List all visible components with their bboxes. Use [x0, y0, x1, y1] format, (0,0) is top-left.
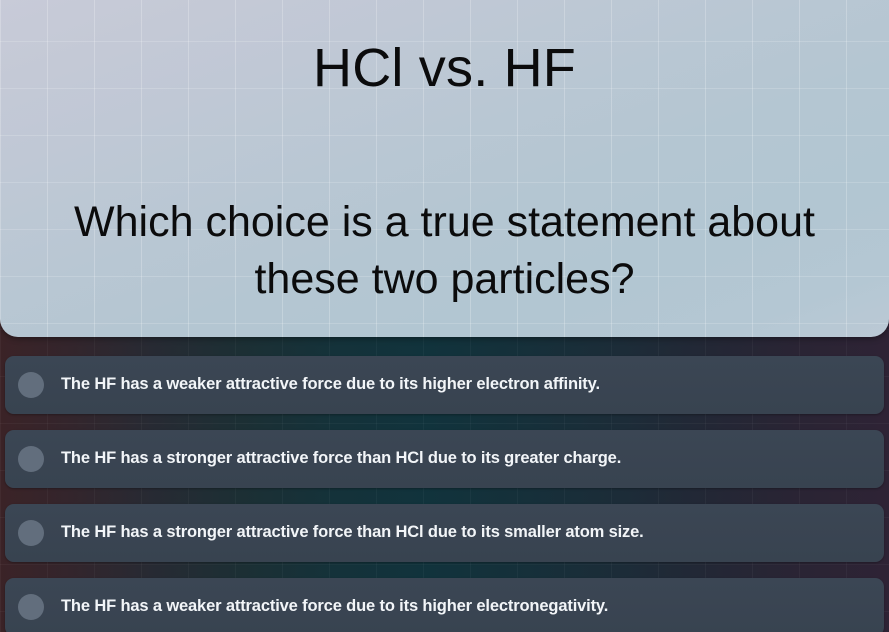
answer-option-b[interactable]: The HF has a stronger attractive force t… — [5, 430, 884, 488]
answer-options-list: The HF has a weaker attractive force due… — [5, 356, 884, 632]
page-title: HCl vs. HF — [0, 40, 889, 97]
question-header-panel: HCl vs. HF Which choice is a true statem… — [0, 0, 889, 337]
answer-option-label: The HF has a weaker attractive force due… — [61, 375, 600, 395]
answer-option-c[interactable]: The HF has a stronger attractive force t… — [5, 504, 884, 562]
radio-unselected-icon[interactable] — [18, 594, 44, 620]
answer-option-a[interactable]: The HF has a weaker attractive force due… — [5, 356, 884, 414]
radio-unselected-icon[interactable] — [18, 520, 44, 546]
answer-option-d[interactable]: The HF has a weaker attractive force due… — [5, 578, 884, 632]
radio-unselected-icon[interactable] — [18, 372, 44, 398]
answer-option-label: The HF has a weaker attractive force due… — [61, 597, 608, 617]
radio-unselected-icon[interactable] — [18, 446, 44, 472]
header-content: HCl vs. HF Which choice is a true statem… — [0, 0, 889, 337]
answer-option-label: The HF has a stronger attractive force t… — [61, 523, 644, 543]
answer-option-label: The HF has a stronger attractive force t… — [61, 449, 621, 469]
quiz-screen: HCl vs. HF Which choice is a true statem… — [0, 0, 889, 632]
question-prompt: Which choice is a true statement about t… — [60, 194, 829, 308]
